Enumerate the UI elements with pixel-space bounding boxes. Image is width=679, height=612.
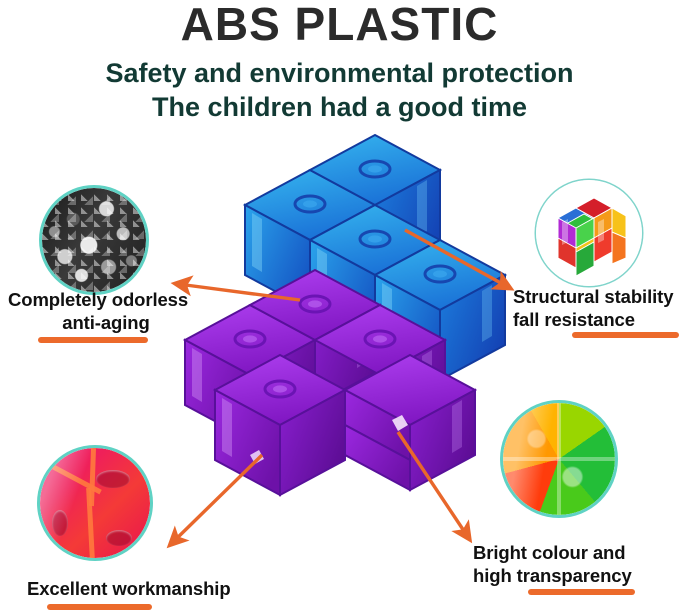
label-odorless-line2: anti-aging bbox=[8, 311, 204, 334]
underline-transparency bbox=[528, 589, 635, 595]
label-transparency-line2: high transparency bbox=[473, 564, 673, 587]
label-workmanship-line1: Excellent workmanship bbox=[27, 577, 267, 600]
soma-cube-thumbnail bbox=[536, 180, 642, 286]
label-odorless-line1: Completely odorless bbox=[8, 288, 204, 311]
label-odorless: Completely odorless anti-aging bbox=[8, 288, 204, 334]
label-transparency-line1: Bright colour and bbox=[473, 541, 673, 564]
underline-workmanship bbox=[47, 604, 152, 610]
label-stability-line2: fall resistance bbox=[513, 308, 679, 331]
colour-blocks-thumbnail bbox=[503, 403, 615, 515]
underline-odorless bbox=[38, 337, 148, 343]
plastic-pellets-thumbnail bbox=[42, 188, 146, 292]
label-stability-line1: Structural stability bbox=[513, 285, 679, 308]
underline-stability bbox=[572, 332, 679, 338]
pink-block-thumbnail bbox=[40, 448, 150, 558]
label-stability: Structural stability fall resistance bbox=[513, 285, 679, 331]
label-workmanship: Excellent workmanship bbox=[27, 577, 267, 600]
infographic-canvas: ABS PLASTIC Safety and environmental pro… bbox=[0, 0, 679, 612]
label-transparency: Bright colour and high transparency bbox=[473, 541, 673, 587]
